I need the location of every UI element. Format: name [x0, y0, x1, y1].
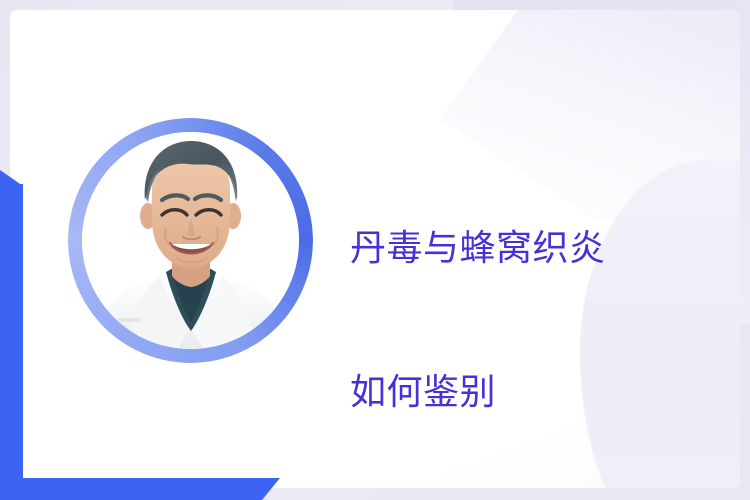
avatar: [68, 118, 313, 363]
accent-frame-left: [0, 184, 23, 480]
page-title: 丹毒与蜂窝织炎 如何鉴别: [350, 128, 725, 500]
avatar-photo-frame: [82, 132, 299, 349]
poster-canvas: 丹毒与蜂窝织炎 如何鉴别 金保亮主任医师 中国中医科学院西苑医院 中医外科: [0, 0, 750, 500]
title-line-2: 如何鉴别: [350, 368, 725, 416]
title-line-1: 丹毒与蜂窝织炎: [350, 224, 725, 272]
accent-frame-bottom: [0, 478, 262, 500]
doctor-portrait-image: [82, 132, 299, 349]
text-column: 丹毒与蜂窝织炎 如何鉴别 金保亮主任医师 中国中医科学院西苑医院 中医外科: [350, 128, 725, 500]
